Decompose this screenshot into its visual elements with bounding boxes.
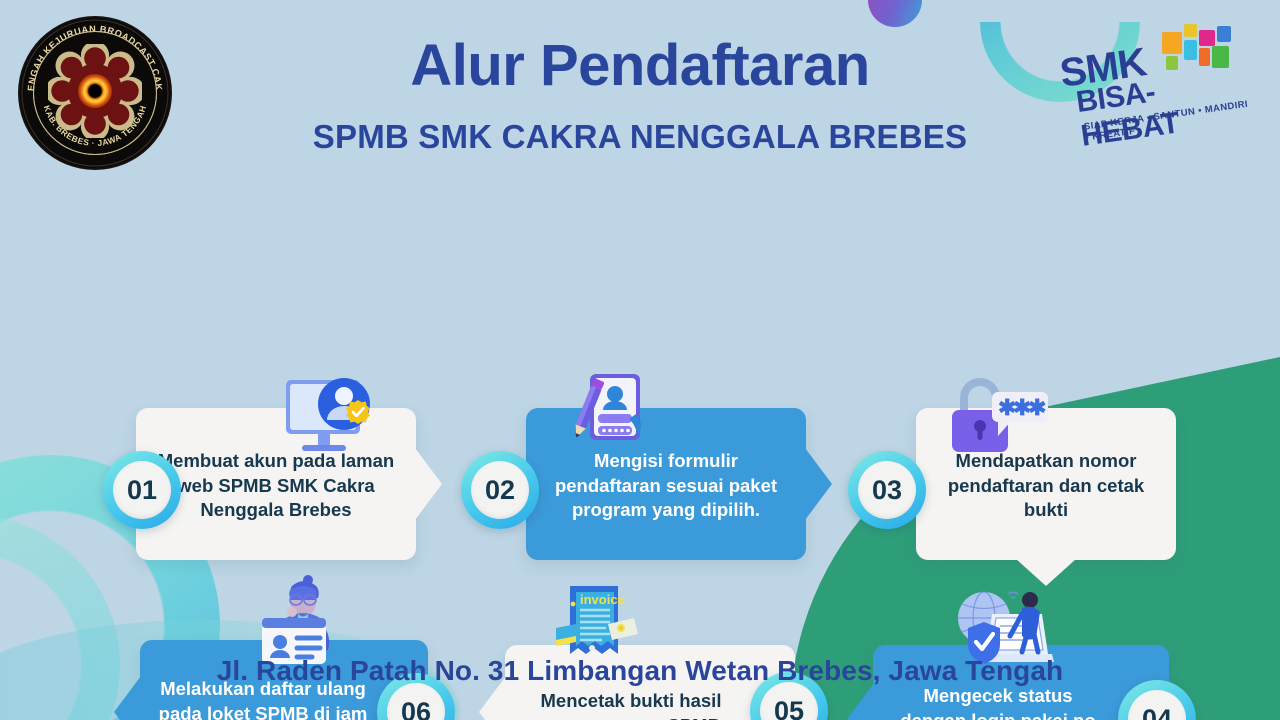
step-04-arrow-left [847, 683, 874, 720]
padlock-password-icon: ✱✱✱ [940, 370, 1048, 466]
form-pencil-icon [560, 370, 668, 466]
step-05-number: 05 [760, 682, 818, 720]
step-02-number: 02 [471, 461, 529, 519]
monitor-user-verified-icon [272, 372, 380, 468]
step-03-number-badge: 03 [848, 451, 926, 529]
step-05-text: Mencetak bukti hasil pengumuman SPMB [521, 689, 779, 720]
step-01-number: 01 [113, 461, 171, 519]
step-01-arrow-right [415, 448, 442, 520]
step-01-number-badge: 01 [103, 451, 181, 529]
smk-bisa-hebat-logo: SMK BISA-HEBAT SIAP KERJA • SANTUN • MAN… [1052, 18, 1252, 133]
step-04-text: Mengecek status dengan login pakai no pe… [889, 684, 1153, 720]
step-03-number: 03 [858, 461, 916, 519]
footer-address: Jl. Raden Patah No. 31 Limbangan Wetan B… [0, 655, 1280, 687]
step-02-arrow-right [805, 448, 832, 520]
svg-text:✱: ✱ [1028, 395, 1046, 420]
invoice-icon-label: invoice [580, 592, 625, 607]
page-header: SEKOLAH MENENGAH KEJURUAN BROADCAST CAKR… [0, 0, 1280, 180]
step-02-number-badge: 02 [461, 451, 539, 529]
step-04-number: 04 [1128, 690, 1186, 720]
step-06-number: 06 [387, 683, 445, 720]
